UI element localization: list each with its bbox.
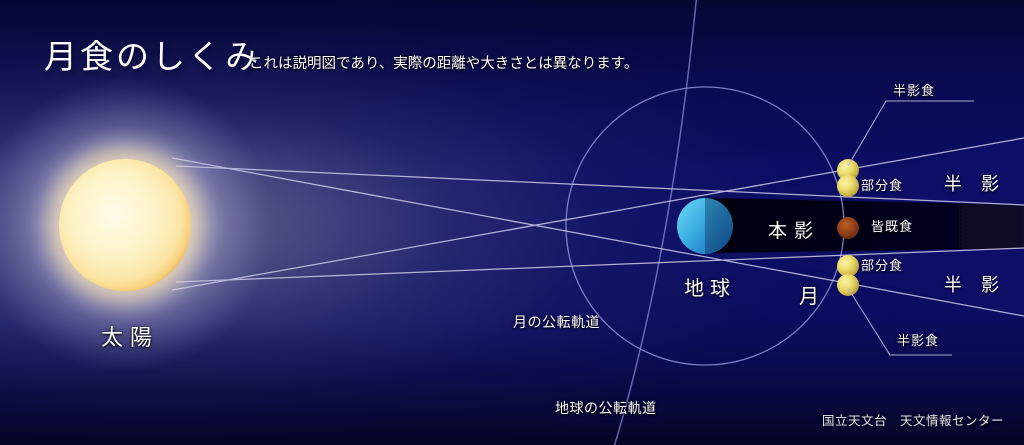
lunar-eclipse-diagram: 月食のしくみ これは説明図であり、実際の距離や大きさとは異なります。 太陽 地球… [0, 0, 1024, 445]
moon-partial-top [837, 175, 859, 197]
moon-total [837, 217, 859, 239]
moon-penumbral-bottom [837, 274, 859, 296]
moon-partial-bottom [837, 255, 859, 277]
sun-disc-glow [59, 159, 191, 291]
umbra-cone-softedge [705, 198, 1024, 253]
earth [677, 198, 733, 254]
diagram-canvas [0, 0, 1024, 445]
